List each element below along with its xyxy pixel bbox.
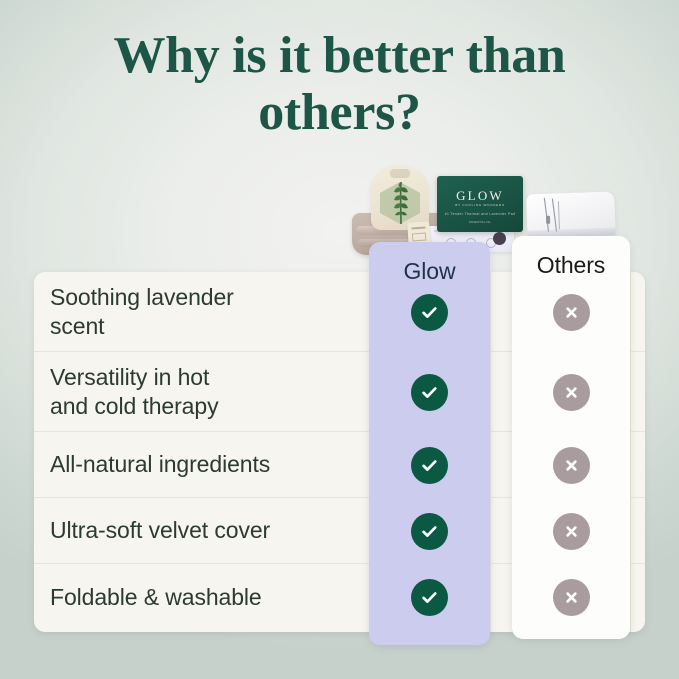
card-top-rule xyxy=(434,230,504,232)
glow-mark-slot xyxy=(369,352,490,432)
pouch-hexagon-badge xyxy=(380,182,420,224)
feature-label: All-natural ingredients xyxy=(34,450,374,479)
glow-mark-slot xyxy=(369,272,490,352)
others-mark-slot xyxy=(512,498,630,564)
close-icon xyxy=(553,294,590,331)
column-divider-2 xyxy=(490,272,491,632)
comparison-infographic: Why is it better than others? xyxy=(0,0,679,679)
feature-label-line-1: Versatility in hot xyxy=(50,364,209,390)
feature-label-line-1: Foldable & washable xyxy=(50,584,262,610)
feature-label: Versatility in hot and cold therapy xyxy=(34,363,374,421)
others-product-image xyxy=(526,191,616,242)
close-icon xyxy=(553,447,590,484)
page-title-line-2: others? xyxy=(0,85,679,142)
others-mark-slot xyxy=(512,272,630,352)
glow-box-subdescription: ESSENTIAL OIL xyxy=(437,220,523,224)
column-divider-4 xyxy=(630,272,631,632)
lavender-sprig-icon xyxy=(388,178,414,226)
glow-column: Glow xyxy=(369,242,490,645)
glow-product-box-image: GLOW BY COOLING WONDERS #1 Tender Therma… xyxy=(437,176,523,232)
feature-label-line-1: Ultra-soft velvet cover xyxy=(50,517,270,543)
others-mark-slot xyxy=(512,432,630,498)
glow-mark-slot xyxy=(369,432,490,498)
check-icon xyxy=(411,579,448,616)
feature-label-line-2: scent xyxy=(50,312,374,341)
glow-mark-slot xyxy=(369,498,490,564)
glow-mark-slot xyxy=(369,564,490,630)
pouch-cap xyxy=(390,169,410,178)
close-icon xyxy=(553,513,590,550)
close-icon xyxy=(553,579,590,616)
glow-box-brand: GLOW xyxy=(437,188,523,204)
others-mark-slot xyxy=(512,352,630,432)
card-corner-accent xyxy=(493,232,506,245)
check-icon xyxy=(411,294,448,331)
others-column: Others xyxy=(512,236,630,639)
feature-label-line-1: Soothing lavender xyxy=(50,284,234,310)
page-title-line-1: Why is it better than xyxy=(0,28,679,85)
check-icon xyxy=(411,447,448,484)
power-cord-icon xyxy=(538,195,569,234)
glow-box-description: #1 Tender Thermal and Lavender Pad xyxy=(437,212,523,216)
close-icon xyxy=(553,374,590,411)
feature-label: Ultra-soft velvet cover xyxy=(34,516,374,545)
lavender-pouch-image xyxy=(371,166,429,230)
others-mark-slot xyxy=(512,564,630,630)
others-marks xyxy=(512,272,630,630)
check-icon xyxy=(411,374,448,411)
feature-label-line-2: and cold therapy xyxy=(50,392,374,421)
feature-label-line-1: All-natural ingredients xyxy=(50,451,270,477)
feature-label: Foldable & washable xyxy=(34,583,374,612)
glow-box-tagline: BY COOLING WONDERS xyxy=(437,203,523,207)
check-icon xyxy=(411,513,448,550)
page-title: Why is it better than others? xyxy=(0,28,679,141)
glow-marks xyxy=(369,272,490,630)
feature-label: Soothing lavender scent xyxy=(34,283,374,341)
